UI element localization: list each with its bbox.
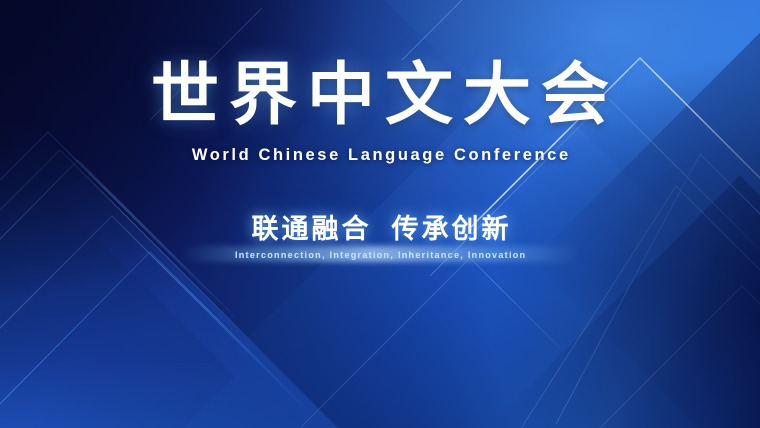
- page-title: 世界中文大会: [141, 62, 619, 130]
- slogan-chinese-part1: 联通融合: [252, 214, 372, 245]
- slogan-english: Interconnection, Integration, Inheritanc…: [234, 251, 527, 260]
- subtitle-english: World Chinese Language Conference: [189, 147, 570, 164]
- slogan-block: 联通融合传承创新 Interconnection, Integration, I…: [0, 216, 760, 260]
- poster-content: 世界中文大会 World Chinese Language Conference…: [0, 0, 760, 428]
- slogan-chinese-part2: 传承创新: [392, 214, 512, 245]
- poster-canvas: 世界中文大会 World Chinese Language Conference…: [0, 0, 760, 428]
- slogan-chinese: 联通融合传承创新: [249, 216, 512, 243]
